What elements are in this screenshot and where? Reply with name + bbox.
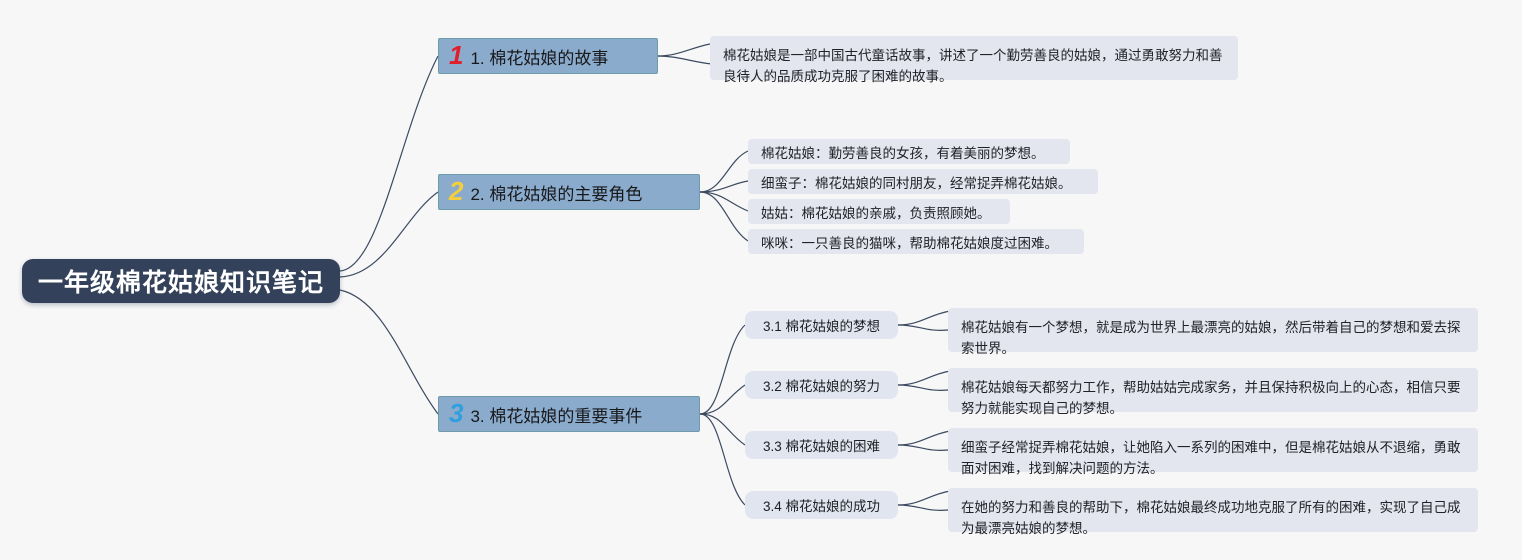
- subnode-3-3-detail-text: 细蛮子经常捉弄棉花姑娘，让她陷入一系列的困难中，但是棉花姑娘从不退缩，勇敢面对困…: [961, 440, 1461, 476]
- branch-node-3[interactable]: 3 3. 棉花姑娘的重要事件: [438, 396, 700, 432]
- edge-branch-1-detail-1: [658, 44, 710, 56]
- subnode-3-2[interactable]: 3.2 棉花姑娘的努力: [745, 371, 898, 399]
- root-node-label: 一年级棉花姑娘知识笔记: [38, 263, 324, 299]
- branch-1-detail-1-text: 棉花姑娘是一部中国古代童话故事，讲述了一个勤劳善良的姑娘，通过勇敢努力和善良待人…: [723, 48, 1223, 84]
- branch-2-detail-4[interactable]: 咪咪：一只善良的猫咪，帮助棉花姑娘度过困难。: [748, 229, 1084, 254]
- subnode-3-1[interactable]: 3.1 棉花姑娘的梦想: [745, 311, 898, 339]
- branch-1-badge: 1: [449, 42, 463, 68]
- subnode-3-3-label: 3.3 棉花姑娘的困难: [763, 435, 880, 455]
- subnode-3-2-detail[interactable]: 棉花姑娘每天都努力工作，帮助姑姑完成家务，并且保持积极向上的心态，相信只要努力就…: [948, 368, 1478, 412]
- subnode-3-2-detail-text: 棉花姑娘每天都努力工作，帮助姑姑完成家务，并且保持积极向上的心态，相信只要努力就…: [961, 380, 1461, 416]
- edge-sub-1-detail-b: [898, 311, 950, 325]
- branch-3-label: 3. 棉花姑娘的重要事件: [470, 402, 642, 427]
- edge-branch-3-sub-3: [700, 414, 745, 445]
- edge-branch-3-sub-4: [700, 414, 745, 505]
- edge-branch-2-detail-1: [700, 151, 748, 192]
- edge-root-to-branch-2: [340, 192, 438, 277]
- branch-2-detail-3-text: 姑姑：棉花姑娘的亲戚，负责照顾她。: [761, 206, 991, 221]
- edge-sub-4-detail: [898, 505, 948, 510]
- mindmap-canvas: 一年级棉花姑娘知识笔记 1 1. 棉花姑娘的故事 棉花姑娘是一部中国古代童话故事…: [0, 0, 1522, 560]
- subnode-3-1-detail-text: 棉花姑娘有一个梦想，就是成为世界上最漂亮的姑娘，然后带着自己的梦想和爱去探索世界…: [961, 320, 1461, 356]
- edge-sub-2-detail: [898, 385, 948, 390]
- edge-root-to-branch-3: [340, 290, 438, 414]
- root-node[interactable]: 一年级棉花姑娘知识笔记: [22, 259, 340, 303]
- branch-1-label: 1. 棉花姑娘的故事: [470, 44, 608, 69]
- branch-2-detail-2[interactable]: 细蛮子：棉花姑娘的同村朋友，经常捉弄棉花姑娘。: [748, 169, 1098, 194]
- subnode-3-1-label: 3.1 棉花姑娘的梦想: [763, 315, 880, 335]
- edge-branch-3-sub-1: [700, 325, 745, 414]
- edge-branch-1-detail-1b: [658, 56, 712, 64]
- subnode-3-4-detail[interactable]: 在她的努力和善良的帮助下，棉花姑娘最终成功地克服了所有的困难，实现了自己成为最漂…: [948, 488, 1478, 532]
- branch-2-badge: 2: [449, 178, 463, 204]
- edge-sub-4-detail-b: [898, 491, 950, 505]
- branch-node-1[interactable]: 1 1. 棉花姑娘的故事: [438, 38, 658, 74]
- branch-2-detail-1[interactable]: 棉花姑娘：勤劳善良的女孩，有着美丽的梦想。: [748, 139, 1070, 164]
- edge-branch-3-sub-2: [700, 385, 745, 414]
- edge-branch-2-detail-3: [700, 192, 748, 211]
- edge-sub-1-detail: [898, 325, 948, 330]
- branch-3-badge: 3: [449, 400, 463, 426]
- branch-1-detail-1[interactable]: 棉花姑娘是一部中国古代童话故事，讲述了一个勤劳善良的姑娘，通过勇敢努力和善良待人…: [710, 36, 1238, 80]
- branch-2-detail-2-text: 细蛮子：棉花姑娘的同村朋友，经常捉弄棉花姑娘。: [761, 176, 1072, 191]
- subnode-3-1-detail[interactable]: 棉花姑娘有一个梦想，就是成为世界上最漂亮的姑娘，然后带着自己的梦想和爱去探索世界…: [948, 308, 1478, 352]
- branch-2-detail-1-text: 棉花姑娘：勤劳善良的女孩，有着美丽的梦想。: [761, 146, 1045, 161]
- edge-branch-2-detail-4: [700, 192, 748, 241]
- branch-2-detail-3[interactable]: 姑姑：棉花姑娘的亲戚，负责照顾她。: [748, 199, 1010, 224]
- branch-node-2[interactable]: 2 2. 棉花姑娘的主要角色: [438, 174, 700, 210]
- subnode-3-3-detail[interactable]: 细蛮子经常捉弄棉花姑娘，让她陷入一系列的困难中，但是棉花姑娘从不退缩，勇敢面对困…: [948, 428, 1478, 472]
- edge-sub-3-detail: [898, 445, 948, 450]
- edge-sub-3-detail-b: [898, 431, 950, 445]
- subnode-3-4-label: 3.4 棉花姑娘的成功: [763, 495, 880, 515]
- edge-sub-2-detail-b: [898, 371, 950, 385]
- branch-2-label: 2. 棉花姑娘的主要角色: [470, 180, 642, 205]
- subnode-3-4-detail-text: 在她的努力和善良的帮助下，棉花姑娘最终成功地克服了所有的困难，实现了自己成为最漂…: [961, 500, 1461, 536]
- subnode-3-2-label: 3.2 棉花姑娘的努力: [763, 375, 880, 395]
- subnode-3-4[interactable]: 3.4 棉花姑娘的成功: [745, 491, 898, 519]
- subnode-3-3[interactable]: 3.3 棉花姑娘的困难: [745, 431, 898, 459]
- edge-root-to-branch-1: [340, 56, 438, 271]
- branch-2-detail-4-text: 咪咪：一只善良的猫咪，帮助棉花姑娘度过困难。: [761, 236, 1058, 251]
- edge-branch-2-detail-2: [700, 181, 748, 192]
